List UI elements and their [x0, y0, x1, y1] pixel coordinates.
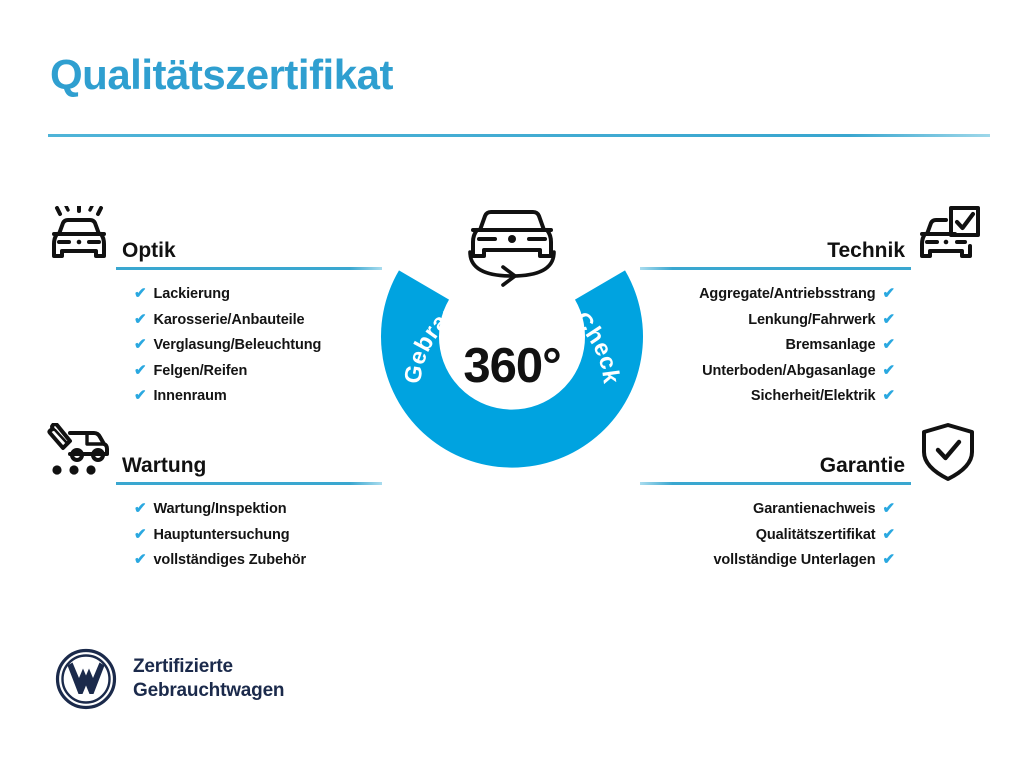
list-item-label: Hauptuntersuchung	[153, 528, 289, 543]
list-item-label: Innenraum	[153, 389, 226, 404]
badge-center-label: 360°	[372, 338, 652, 394]
check-icon: ✔	[134, 501, 146, 516]
list-item: ✔vollständige Unterlagen	[640, 552, 895, 568]
vw-footer-text: Zertifizierte Gebrauchtwagen	[133, 655, 284, 703]
check-icon: ✔	[883, 388, 895, 403]
checklist-optik: ✔Lackierung ✔Karosserie/Anbauteile ✔Verg…	[42, 286, 382, 404]
list-item-label: Unterboden/Abgasanlage	[702, 364, 875, 379]
list-item-label: Bremsanlage	[786, 338, 876, 353]
section-wartung: Wartung ✔Wartung/Inspektion ✔Hauptunters…	[42, 415, 382, 578]
check-icon: ✔	[883, 337, 895, 352]
check-icon: ✔	[883, 552, 895, 567]
checklist-technik: ✔Aggregate/Antriebsstrang ✔Lenkung/Fahrw…	[640, 286, 985, 404]
shield-check-icon	[911, 417, 985, 487]
checklist-garantie: ✔Garantienachweis ✔Qualitätszertifikat ✔…	[640, 501, 985, 568]
list-item: ✔Wartung/Inspektion	[134, 501, 382, 517]
list-item-label: Karosserie/Anbauteile	[153, 313, 304, 328]
list-item-label: Wartung/Inspektion	[153, 502, 286, 517]
list-item-label: Aggregate/Antriebsstrang	[699, 287, 875, 302]
list-item: ✔Felgen/Reifen	[134, 363, 382, 379]
section-title-technik: Technik	[640, 239, 911, 267]
check-icon: ✔	[134, 388, 146, 403]
section-underline	[116, 267, 382, 270]
check-icon: ✔	[883, 501, 895, 516]
list-item: ✔Lackierung	[134, 286, 382, 302]
check-icon: ✔	[883, 312, 895, 327]
list-item: ✔vollständiges Zubehör	[134, 552, 382, 568]
list-item: ✔Innenraum	[134, 388, 382, 404]
section-title-optik: Optik	[116, 239, 382, 267]
list-item-label: vollständige Unterlagen	[713, 553, 875, 568]
qualitaetszertifikat-page: { "header": { "title": "Qualitätszertifi…	[0, 0, 1024, 768]
list-item: ✔Unterboden/Abgasanlage	[640, 363, 895, 379]
check-icon: ✔	[883, 363, 895, 378]
list-item: ✔Hauptuntersuchung	[134, 527, 382, 543]
checklist-wartung: ✔Wartung/Inspektion ✔Hauptuntersuchung ✔…	[42, 501, 382, 568]
check-icon: ✔	[883, 527, 895, 542]
360-check-badge: Gebrauchtwagen-Check 360°	[372, 192, 652, 492]
list-item-label: Lackierung	[153, 287, 229, 302]
title-divider	[48, 134, 990, 137]
section-underline	[640, 482, 911, 485]
list-item: ✔Karosserie/Anbauteile	[134, 312, 382, 328]
list-item: ✔Bremsanlage	[640, 337, 895, 353]
section-garantie: Garantie ✔Garantienachweis ✔Qualitätszer…	[640, 415, 985, 578]
vw-footer-line1: Zertifizierte	[133, 655, 284, 679]
section-underline	[640, 267, 911, 270]
list-item-label: Felgen/Reifen	[153, 364, 247, 379]
list-item-label: vollständiges Zubehör	[153, 553, 306, 568]
list-item-label: Garantienachweis	[753, 502, 876, 517]
vw-logo-icon	[55, 648, 117, 710]
section-optik: Optik ✔Lackierung ✔Karosserie/Anbauteile…	[42, 200, 382, 414]
list-item: ✔Verglasung/Beleuchtung	[134, 337, 382, 353]
check-icon: ✔	[134, 337, 146, 352]
list-item: ✔Garantienachweis	[640, 501, 895, 517]
check-icon: ✔	[134, 312, 146, 327]
car-shine-icon	[42, 202, 116, 272]
list-item: ✔Sicherheit/Elektrik	[640, 388, 895, 404]
car-service-tool-icon	[42, 417, 116, 487]
page-title: Qualitätszertifikat	[50, 52, 393, 98]
list-item: ✔Aggregate/Antriebsstrang	[640, 286, 895, 302]
section-underline	[116, 482, 382, 485]
section-title-garantie: Garantie	[640, 454, 911, 482]
car-checkbox-icon	[911, 202, 985, 272]
car-rotate-icon	[470, 212, 554, 285]
list-item-label: Qualitätszertifikat	[756, 528, 876, 543]
check-icon: ✔	[134, 286, 146, 301]
section-technik: Technik ✔Aggregate/Antriebsstrang ✔Lenku…	[640, 200, 985, 414]
list-item-label: Sicherheit/Elektrik	[751, 389, 876, 404]
vw-footer-logo: Zertifizierte Gebrauchtwagen	[55, 648, 284, 710]
list-item: ✔Lenkung/Fahrwerk	[640, 312, 895, 328]
vw-footer-line2: Gebrauchtwagen	[133, 679, 284, 703]
check-icon: ✔	[883, 286, 895, 301]
list-item: ✔Qualitätszertifikat	[640, 527, 895, 543]
check-icon: ✔	[134, 527, 146, 542]
check-icon: ✔	[134, 363, 146, 378]
section-title-wartung: Wartung	[116, 454, 382, 482]
list-item-label: Verglasung/Beleuchtung	[153, 338, 321, 353]
list-item-label: Lenkung/Fahrwerk	[748, 313, 875, 328]
check-icon: ✔	[134, 552, 146, 567]
